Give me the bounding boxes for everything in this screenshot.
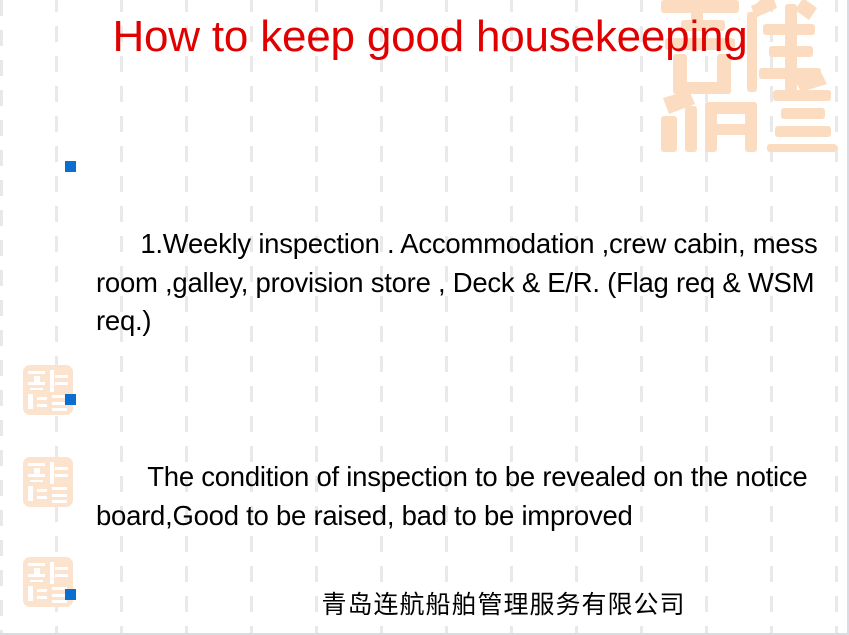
presentation-slide: How to keep good housekeeping 1.Weekly i…	[0, 0, 849, 635]
bullet-square-icon	[65, 161, 76, 172]
bullet-text: 1.Weekly inspection . Accommodation ,cre…	[96, 228, 825, 336]
slide-title: How to keep good housekeeping	[90, 10, 770, 65]
bullet-text: The condition of inspection to be reveal…	[96, 461, 815, 531]
bullet-item-2: The condition of inspection to be reveal…	[56, 381, 836, 574]
slide-body: 1.Weekly inspection . Accommodation ,cre…	[56, 148, 836, 635]
bullet-item-1: 1.Weekly inspection . Accommodation ,cre…	[56, 148, 836, 379]
bullet-square-icon	[65, 394, 76, 405]
slide-footer: 青岛连航船舶管理服务有限公司	[0, 585, 827, 621]
footer-company-name: 青岛连航船舶管理服务有限公司	[321, 585, 685, 621]
